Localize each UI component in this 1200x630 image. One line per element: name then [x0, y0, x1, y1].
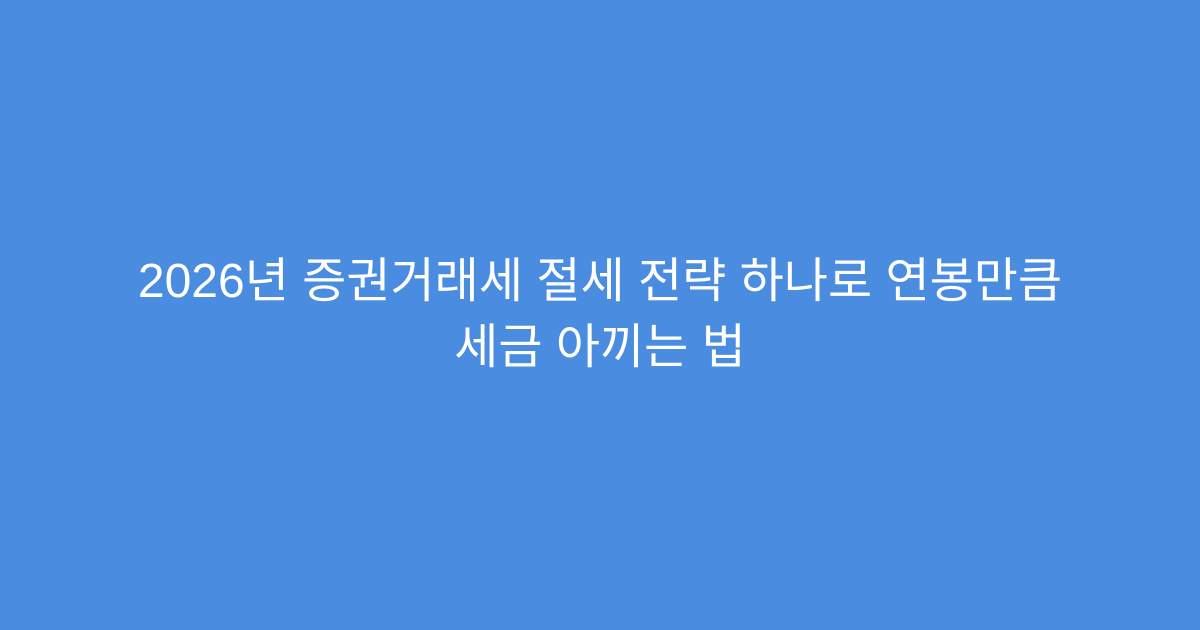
page-title: 2026년 증권거래세 절세 전략 하나로 연봉만큼 세금 아끼는 법 — [95, 249, 1105, 381]
share-card: 2026년 증권거래세 절세 전략 하나로 연봉만큼 세금 아끼는 법 — [0, 0, 1200, 630]
